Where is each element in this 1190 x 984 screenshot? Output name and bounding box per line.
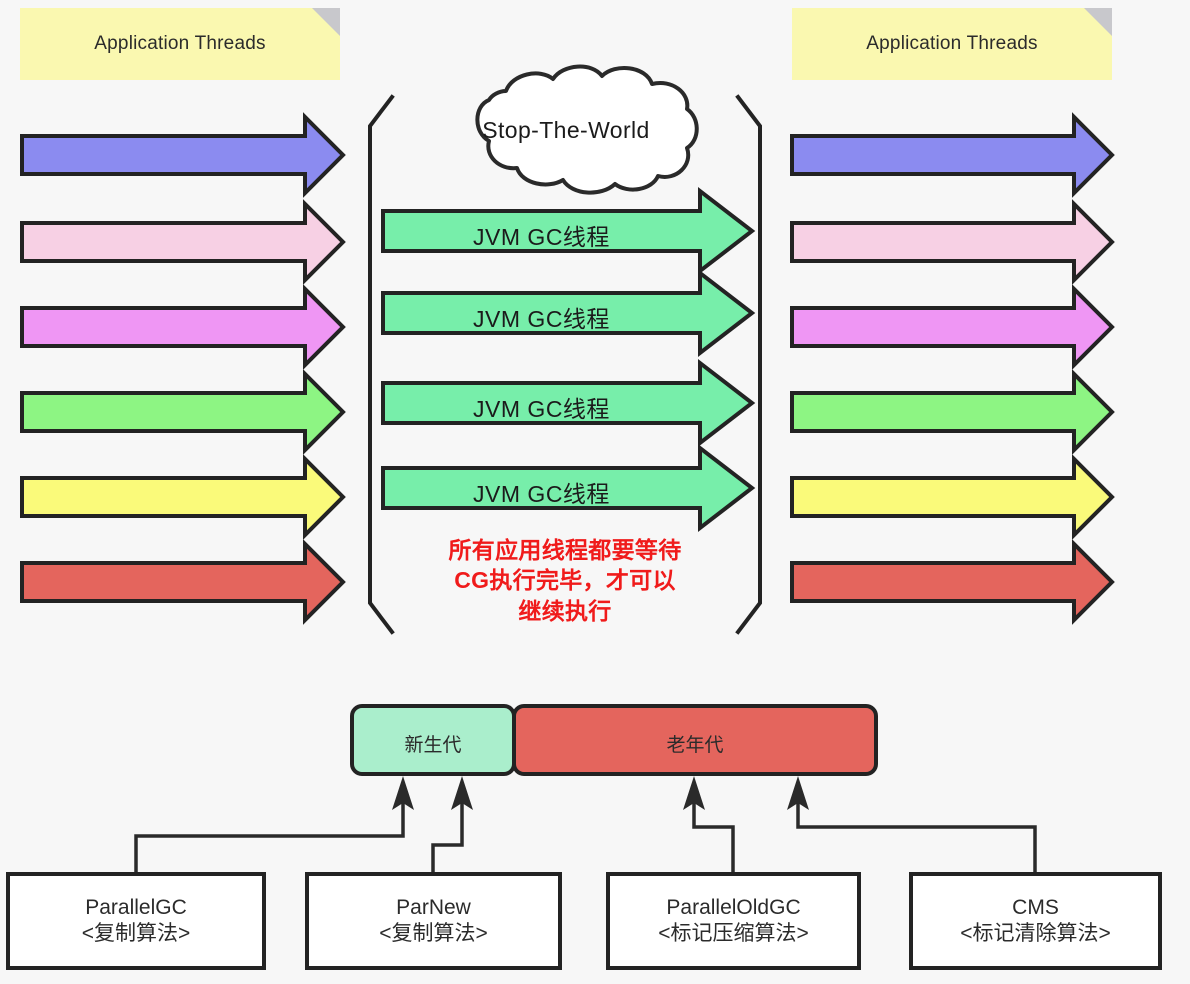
collector-name: ParallelGC — [85, 895, 187, 921]
connector-parnew — [433, 803, 462, 874]
connector-paralleloldgc — [694, 803, 733, 874]
sticky-note-right-label: Application Threads — [866, 33, 1037, 55]
right-thread-arrow-5 — [792, 459, 1112, 535]
right-thread-arrow-1 — [792, 117, 1112, 193]
right-thread-arrow-3 — [792, 289, 1112, 365]
stw-warning-line-3: 继续执行 — [400, 596, 730, 626]
connector-parallelgc — [136, 803, 403, 874]
right-thread-arrow-2 — [792, 204, 1112, 280]
left-thread-arrow-2 — [22, 204, 343, 280]
collector-label-paralleloldgc: ParallelOldGC <标记压缩算法> — [608, 874, 859, 968]
left-thread-arrow-3 — [22, 289, 343, 365]
sticky-note-left-label: Application Threads — [94, 33, 265, 55]
young-generation-label: 新生代 — [352, 730, 514, 757]
gc-thread-label-2: JVM GC线程 — [383, 300, 700, 334]
collector-arrowheads — [392, 776, 809, 810]
collector-algorithm: <复制算法> — [82, 921, 191, 947]
left-thread-arrow-1 — [22, 117, 343, 193]
stw-warning-text: 所有应用线程都要等待 CG执行完毕，才可以 继续执行 — [400, 535, 730, 626]
collector-algorithm: <复制算法> — [379, 921, 488, 947]
collector-algorithm: <标记压缩算法> — [658, 921, 809, 947]
collector-name: ParNew — [396, 895, 471, 921]
collector-algorithm: <标记清除算法> — [960, 921, 1111, 947]
collector-label-parallelgc: ParallelGC <复制算法> — [8, 874, 264, 968]
right-thread-arrow-4 — [792, 374, 1112, 450]
collector-name: ParallelOldGC — [666, 895, 800, 921]
left-thread-arrow-4 — [22, 374, 343, 450]
gc-thread-label-4: JVM GC线程 — [383, 475, 700, 509]
diagram-canvas: Application Threads Application Threads — [0, 0, 1190, 984]
bracket-left — [370, 97, 392, 632]
old-generation-label: 老年代 — [514, 730, 876, 757]
gc-thread-label-1: JVM GC线程 — [383, 218, 700, 252]
left-thread-arrow-6 — [22, 544, 343, 620]
left-thread-arrows — [22, 117, 343, 620]
gc-thread-label-3: JVM GC线程 — [383, 390, 700, 424]
collector-name: CMS — [1012, 895, 1059, 921]
right-thread-arrow-6 — [792, 544, 1112, 620]
right-thread-arrows — [792, 117, 1112, 620]
stw-warning-line-2: CG执行完毕，才可以 — [400, 565, 730, 595]
collector-label-parnew: ParNew <复制算法> — [307, 874, 560, 968]
stw-warning-line-1: 所有应用线程都要等待 — [400, 535, 730, 565]
bracket-right — [738, 97, 760, 632]
collector-label-cms: CMS <标记清除算法> — [911, 874, 1160, 968]
stop-the-world-label: Stop-The-World — [466, 117, 666, 144]
left-thread-arrow-5 — [22, 459, 343, 535]
collector-connectors — [136, 803, 1035, 874]
connector-cms — [798, 803, 1035, 874]
